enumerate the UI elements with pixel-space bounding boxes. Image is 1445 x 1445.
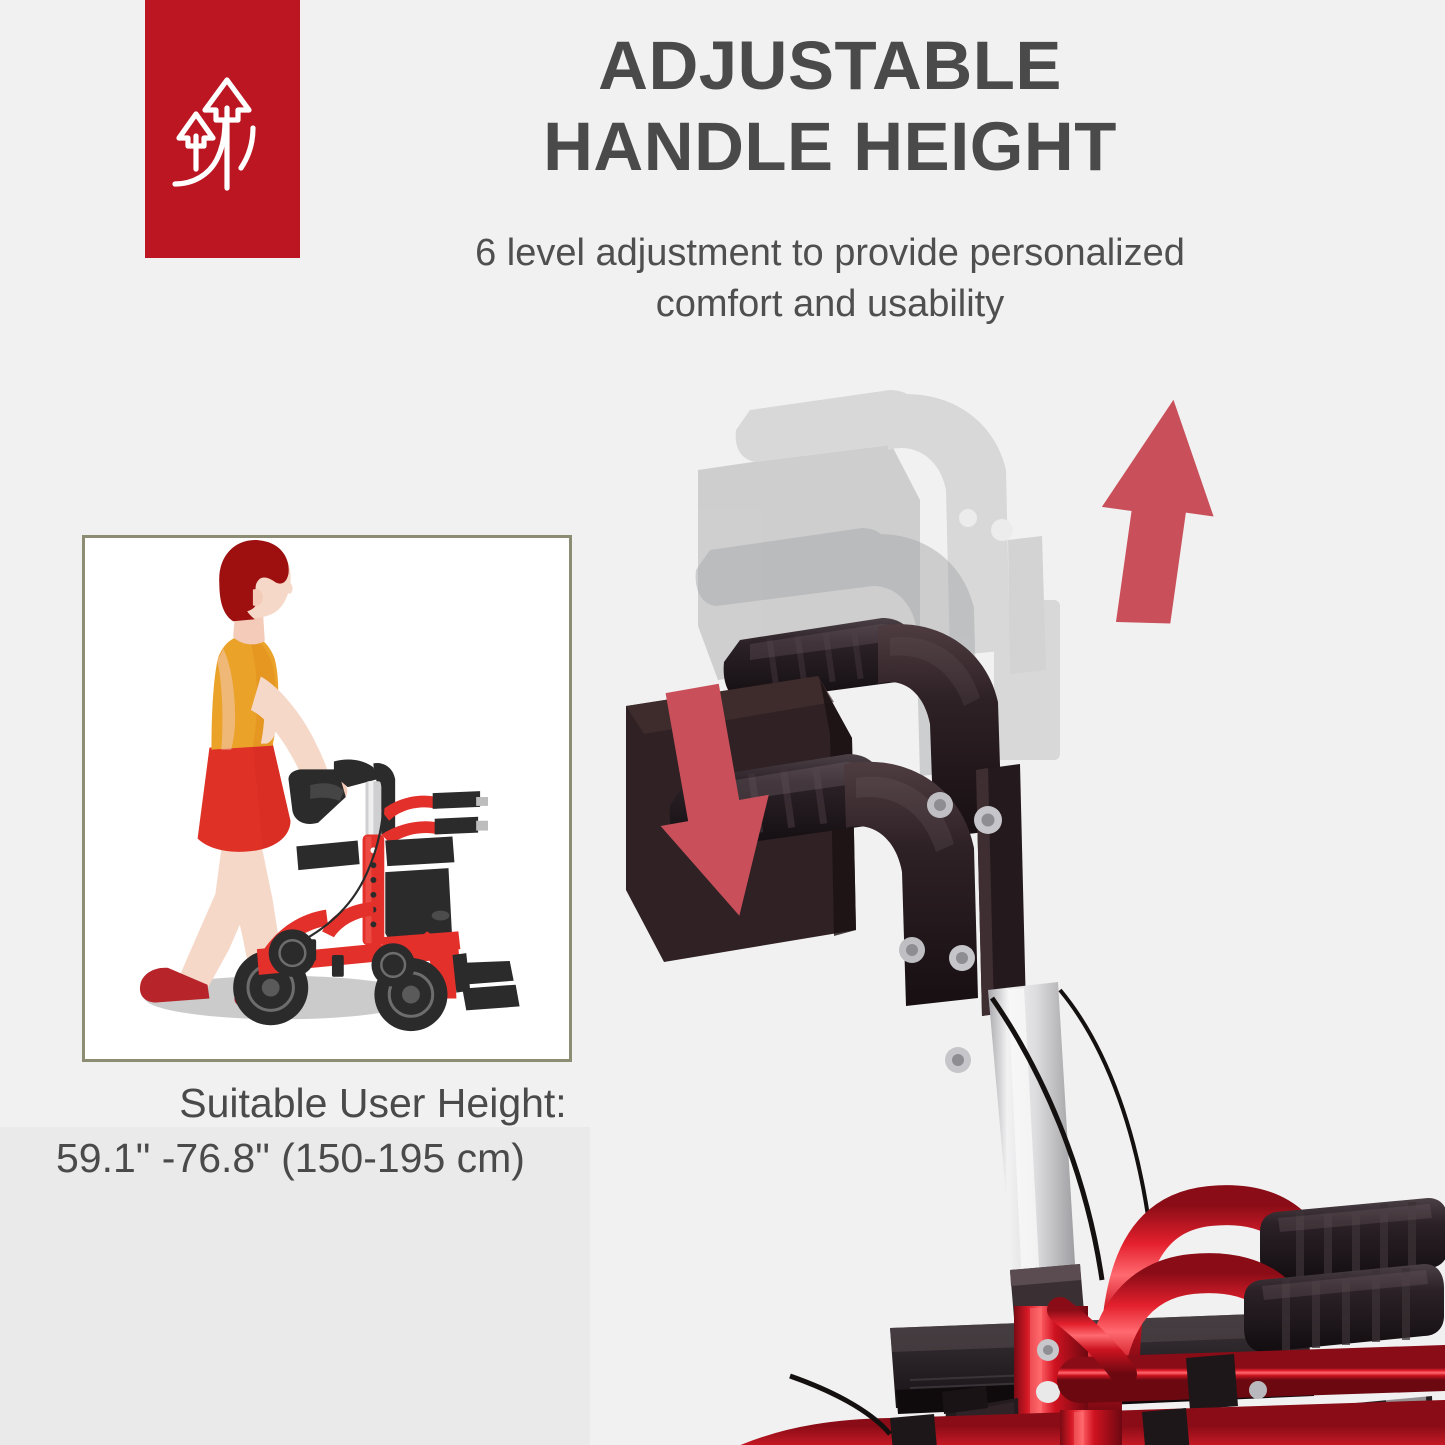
caption-line-1: Suitable User Height: (56, 1076, 676, 1131)
title-line-1: ADJUSTABLE (330, 26, 1330, 107)
page-title: ADJUSTABLE HANDLE HEIGHT (330, 26, 1330, 187)
infographic-root: ADJUSTABLE HANDLE HEIGHT 6 level adjustm… (0, 0, 1445, 1445)
brand-banner (145, 0, 300, 258)
title-line-2: HANDLE HEIGHT (330, 107, 1330, 188)
product-photo (590, 350, 1445, 1445)
rising-arrows-icon (169, 64, 277, 194)
subtitle-line-1: 6 level adjustment to provide personaliz… (330, 228, 1330, 279)
caption-line-2: 59.1" -76.8" (150-195 cm) (56, 1131, 676, 1186)
suitable-user-height-caption: Suitable User Height: 59.1" -76.8" (150-… (56, 1076, 676, 1185)
user-illustration-card (82, 535, 572, 1062)
subtitle-line-2: comfort and usability (330, 279, 1330, 330)
page-subtitle: 6 level adjustment to provide personaliz… (330, 228, 1330, 329)
